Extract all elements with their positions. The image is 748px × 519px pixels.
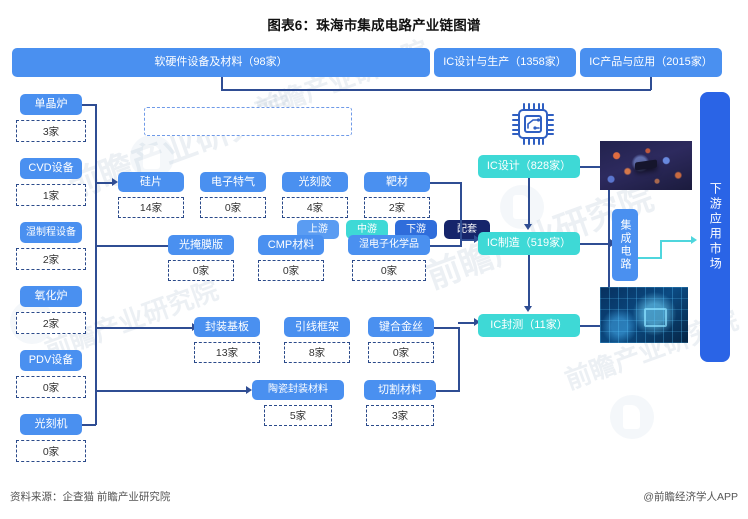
equipment-count-3: 2家 xyxy=(16,312,86,334)
downstream-market-text: 下游应用市场 xyxy=(709,182,722,272)
material-count-1-2: 0家 xyxy=(352,260,426,281)
material-count-0-3: 2家 xyxy=(364,197,430,218)
equipment-count-2: 2家 xyxy=(16,248,86,270)
connector xyxy=(95,104,97,425)
ic-chain-design[interactable]: IC设计（828家） xyxy=(478,155,580,178)
watermark-logo xyxy=(500,185,544,229)
material-count-1-0: 0家 xyxy=(168,260,234,281)
connector xyxy=(95,245,173,247)
equipment-count-4: 0家 xyxy=(16,376,86,398)
connector xyxy=(660,240,662,258)
chip-icon xyxy=(508,98,558,155)
material-box-3-0[interactable]: 陶瓷封装材料 xyxy=(252,380,344,400)
connector xyxy=(528,178,530,224)
material-count-2-2: 0家 xyxy=(368,342,434,363)
connector xyxy=(95,327,193,329)
equipment-count-0: 3家 xyxy=(16,120,86,142)
top-bar-ic-products-applications[interactable]: IC产品与应用（2015家） xyxy=(580,48,722,77)
material-box-0-1[interactable]: 电子特气 xyxy=(200,172,266,192)
chip-die-photo xyxy=(600,141,692,190)
material-count-3-1: 3家 xyxy=(366,405,434,426)
material-box-1-2[interactable]: 湿电子化学品 xyxy=(348,235,430,255)
material-box-2-1[interactable]: 引线框架 xyxy=(284,317,350,337)
connector xyxy=(460,213,462,240)
material-count-0-2: 4家 xyxy=(282,197,348,218)
downstream-market-bar[interactable]: 下游应用市场 xyxy=(700,92,730,362)
ic-chain-packaging-testing[interactable]: IC封测（11家） xyxy=(478,314,580,337)
connector xyxy=(95,182,113,184)
connector xyxy=(458,327,460,390)
material-box-0-2[interactable]: 光刻胶 xyxy=(282,172,348,192)
arrow-icon xyxy=(524,224,532,230)
ic-product-text: 集成电路 xyxy=(617,219,633,271)
connector xyxy=(82,104,96,106)
ic-chain-manufacturing[interactable]: IC制造（519家） xyxy=(478,232,580,255)
material-count-2-1: 8家 xyxy=(284,342,350,363)
chart-canvas: 前瞻产业研究院 前瞻产业研究院 前瞻产业研究院 前瞻产业研究院 前瞻产业研究院 … xyxy=(0,0,748,519)
material-box-1-0[interactable]: 光掩膜版 xyxy=(168,235,234,255)
material-count-1-1: 0家 xyxy=(258,260,324,281)
connector xyxy=(221,89,651,91)
connector xyxy=(430,182,462,184)
connector xyxy=(430,245,462,247)
material-box-1-1[interactable]: CMP材料 xyxy=(258,235,324,255)
material-box-3-1[interactable]: 切割材料 xyxy=(364,380,436,400)
top-bar-ic-design-production[interactable]: IC设计与生产（1358家） xyxy=(434,48,576,77)
connector xyxy=(436,390,460,392)
brand-note: @前瞻经济学人APP xyxy=(643,489,738,504)
watermark-logo xyxy=(610,395,654,439)
material-box-0-0[interactable]: 硅片 xyxy=(118,172,184,192)
connector xyxy=(660,240,692,242)
source-note: 资料来源：企查猫 前瞻产业研究院 xyxy=(10,489,170,504)
equipment-count-5: 0家 xyxy=(16,440,86,462)
connector xyxy=(460,239,475,241)
page-title: 图表6：珠海市集成电路产业链图谱 xyxy=(0,14,748,34)
equipment-box-5[interactable]: 光刻机 xyxy=(20,414,82,435)
equipment-box-0[interactable]: 单晶炉 xyxy=(20,94,82,115)
material-count-2-0: 13家 xyxy=(194,342,260,363)
connector xyxy=(528,255,530,306)
connector xyxy=(458,322,475,324)
equipment-box-2[interactable]: 湿制程设备 xyxy=(20,222,82,243)
arrow-icon xyxy=(524,306,532,312)
connector xyxy=(434,327,460,329)
connector xyxy=(82,424,96,426)
top-bar-hardware-software[interactable]: 软硬件设备及材料（98家） xyxy=(12,48,430,77)
equipment-box-4[interactable]: PDV设备 xyxy=(20,350,82,371)
material-box-2-2[interactable]: 键合金丝 xyxy=(368,317,434,337)
material-box-2-0[interactable]: 封装基板 xyxy=(194,317,260,337)
connector xyxy=(638,257,662,259)
equipment-box-1[interactable]: CVD设备 xyxy=(20,158,82,179)
material-count-0-1: 0家 xyxy=(200,197,266,218)
arrow-icon xyxy=(691,236,697,244)
legend: 上游 中游 下游 配套 xyxy=(144,107,352,136)
equipment-count-1: 1家 xyxy=(16,184,86,206)
equipment-box-3[interactable]: 氧化炉 xyxy=(20,286,82,307)
connector xyxy=(650,77,652,90)
material-count-3-0: 5家 xyxy=(264,405,332,426)
connector xyxy=(95,390,247,392)
ic-product-label[interactable]: 集成电路 xyxy=(612,209,638,281)
material-count-0-0: 14家 xyxy=(118,197,184,218)
material-box-0-3[interactable]: 靶材 xyxy=(364,172,430,192)
circuit-board-photo xyxy=(600,287,688,343)
